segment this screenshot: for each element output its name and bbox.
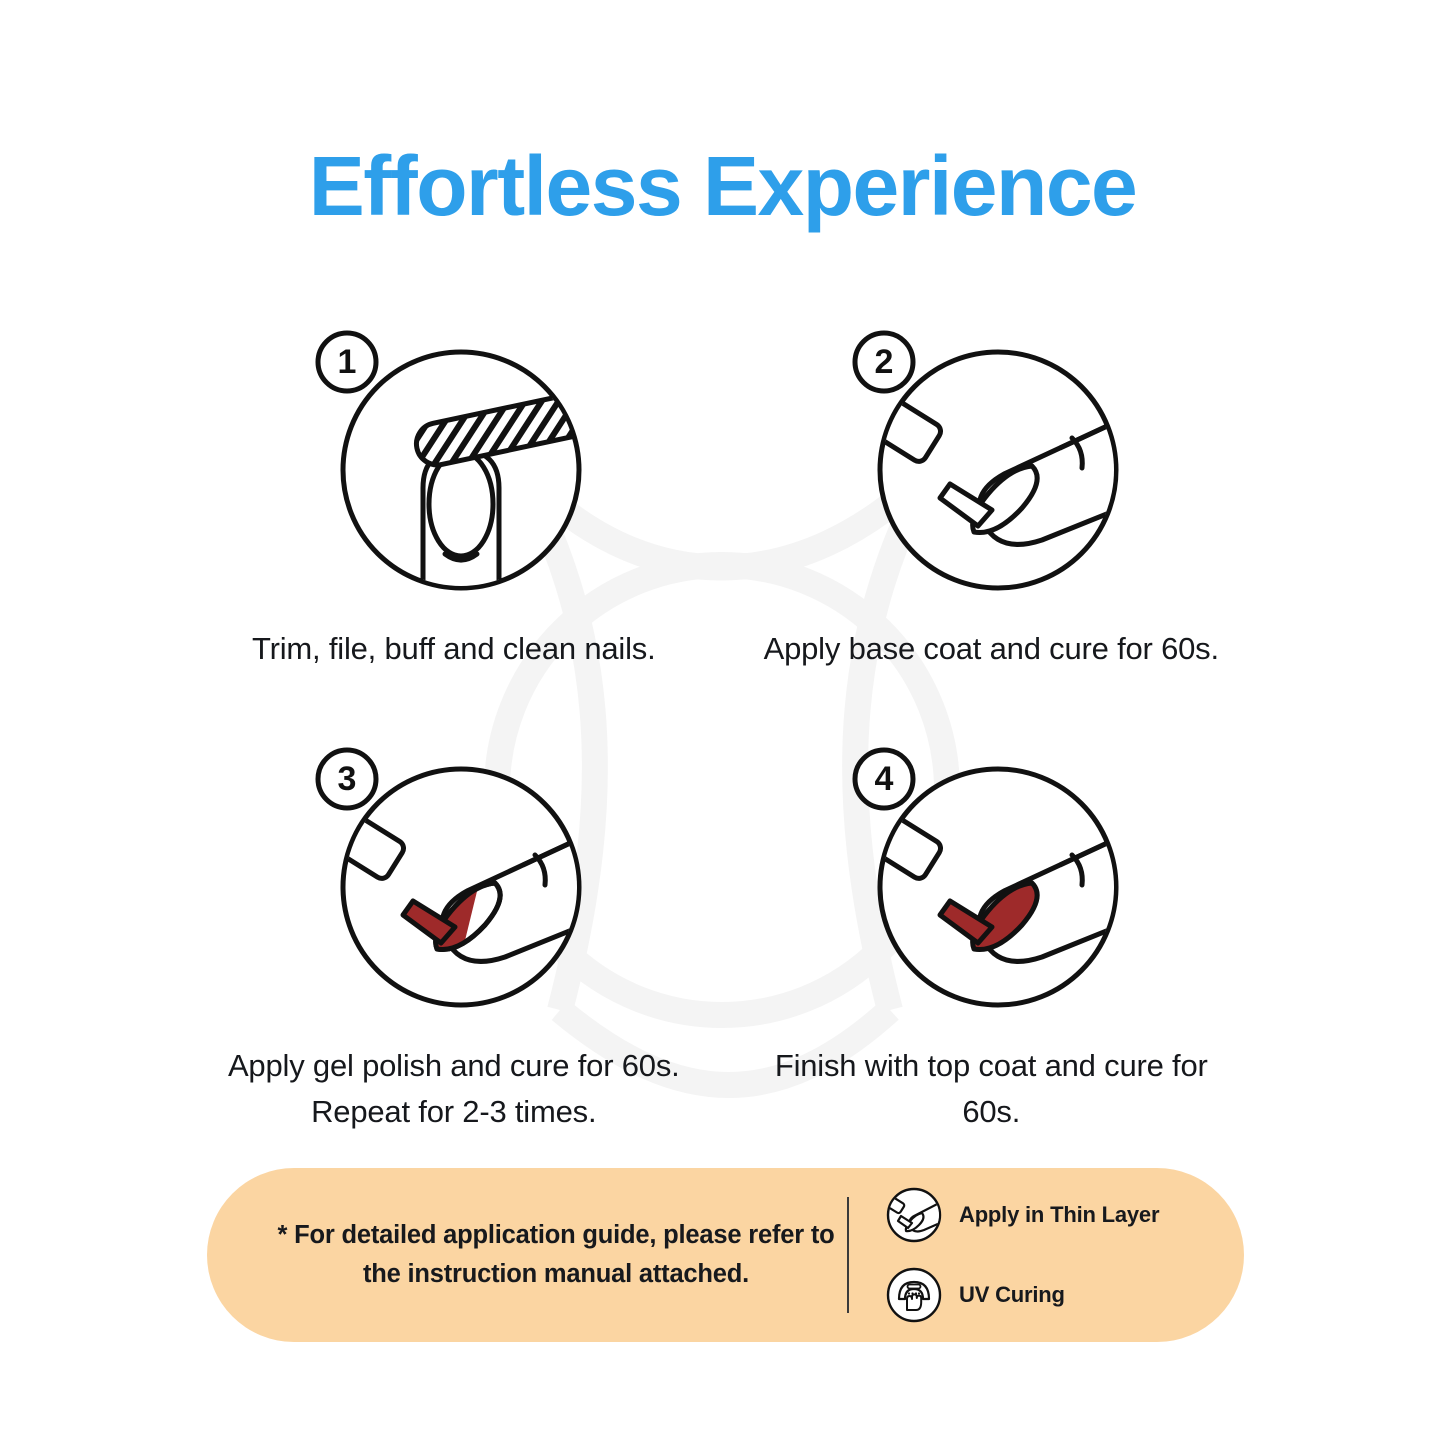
- banner-features-list: Apply in Thin Layer: [885, 1186, 1159, 1324]
- banner-note-text: * For detailed application guide, please…: [207, 1216, 847, 1294]
- step-2-caption: Apply base coat and cure for 60s.: [761, 626, 1221, 673]
- step-3-caption: Apply gel polish and cure for 60s. Repea…: [224, 1043, 684, 1136]
- step-4-caption: Finish with top coat and cure for 60s.: [761, 1043, 1221, 1136]
- banner-divider: [847, 1197, 849, 1313]
- steps-grid: 1 Trim, file, buff and clean nails.: [185, 318, 1260, 1136]
- step-number-4: 4: [875, 760, 894, 798]
- step-card-4: 4 Finish with top coat and cure for 60s.: [723, 735, 1261, 1136]
- feature-thin-layer: Apply in Thin Layer: [885, 1186, 1159, 1244]
- thin-layer-brush-icon: [885, 1186, 943, 1244]
- step-card-2: 2 Apply base coat and cure for 60s.: [723, 318, 1261, 673]
- step-1-illustration: 1: [309, 318, 599, 600]
- step-1-caption: Trim, file, buff and clean nails.: [224, 626, 684, 673]
- step-4-illustration: 4: [846, 735, 1136, 1017]
- uv-lamp-hand-icon: [885, 1266, 943, 1324]
- feature-uv-curing: UV Curing: [885, 1266, 1159, 1324]
- step-card-3: 3 Apply gel polish and cure for 60s. Rep…: [185, 735, 723, 1136]
- effortless-experience-infographic: Effortless Experience: [0, 0, 1445, 1445]
- step-number-2: 2: [875, 343, 894, 381]
- instruction-banner: * For detailed application guide, please…: [207, 1168, 1244, 1342]
- step-card-1: 1 Trim, file, buff and clean nails.: [185, 318, 723, 673]
- feature-label-thin-layer: Apply in Thin Layer: [959, 1202, 1159, 1228]
- step-2-illustration: 2: [846, 318, 1136, 600]
- step-number-3: 3: [337, 760, 356, 798]
- page-title: Effortless Experience: [0, 142, 1445, 230]
- step-3-illustration: 3: [309, 735, 599, 1017]
- step-number-1: 1: [337, 343, 356, 381]
- feature-label-uv-curing: UV Curing: [959, 1282, 1065, 1308]
